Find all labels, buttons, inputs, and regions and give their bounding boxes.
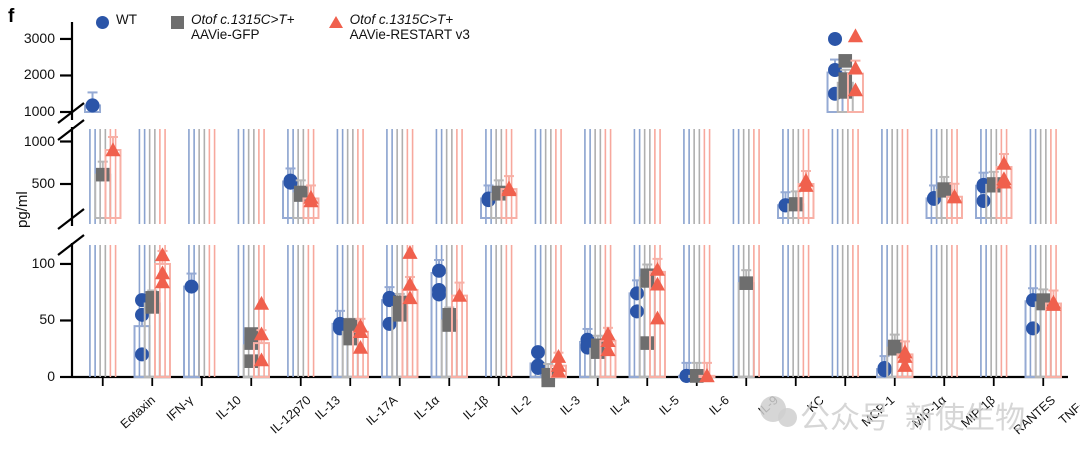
y-tick-100: 100 [0,255,55,271]
y-tick-1000: 1000 [0,103,55,119]
y-tick-1000: 1000 [0,133,55,149]
y-tick-500: 500 [0,175,55,191]
chart-plot-area [0,0,1080,453]
y-tick-0: 0 [0,368,55,384]
y-tick-3000: 3000 [0,30,55,46]
y-tick-2000: 2000 [0,66,55,82]
y-tick-50: 50 [0,311,55,327]
